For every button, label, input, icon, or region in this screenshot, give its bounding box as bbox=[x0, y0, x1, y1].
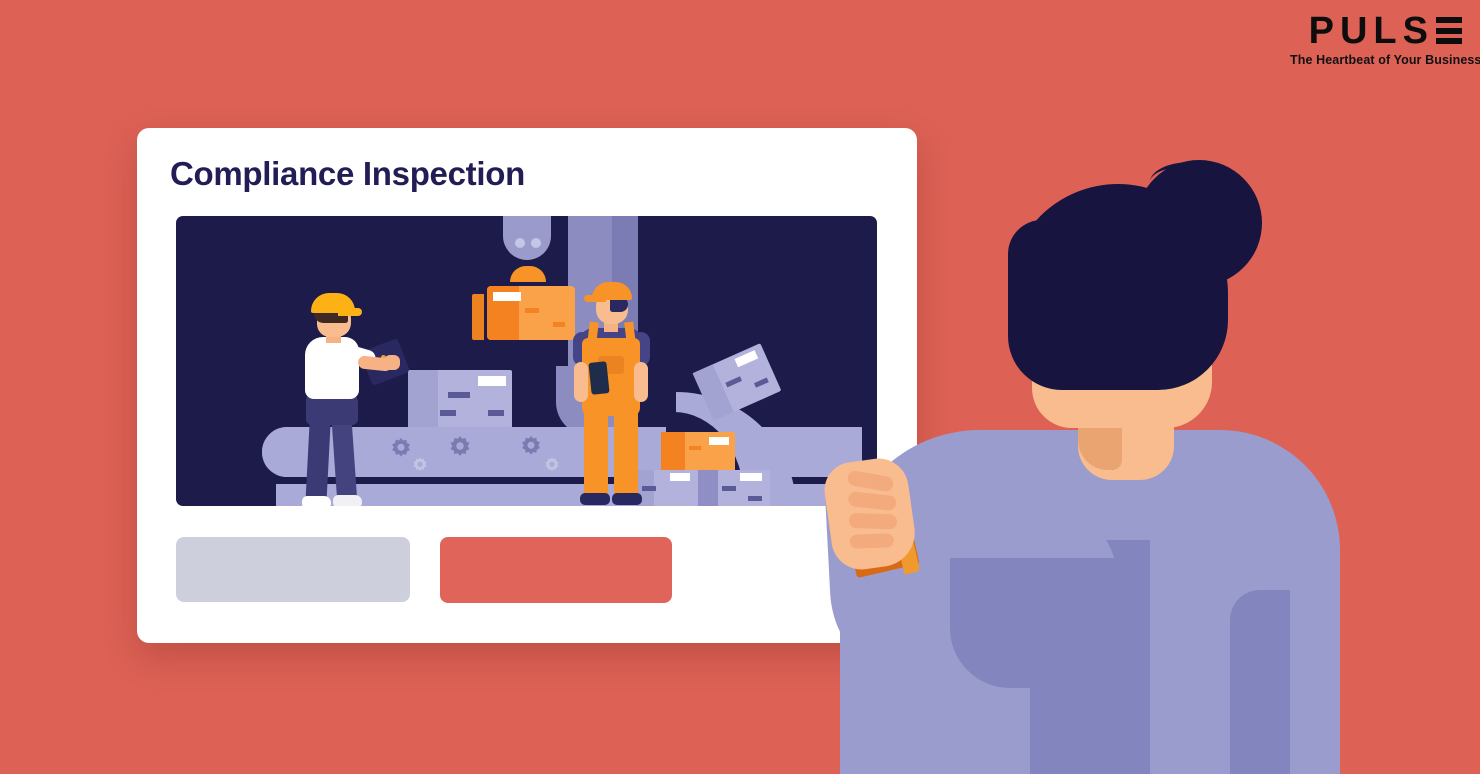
clipboard-scanner-icon bbox=[588, 361, 609, 395]
box-stack-right bbox=[698, 470, 770, 506]
illustration-panel bbox=[176, 216, 877, 506]
page-title: Compliance Inspection bbox=[170, 155, 525, 193]
female-inspector-figure bbox=[286, 291, 406, 506]
gear-icon-5 bbox=[541, 456, 563, 478]
person-sweater-shade-right bbox=[1230, 590, 1290, 774]
box-on-belt-center bbox=[408, 370, 512, 428]
stylized-e-bars-icon bbox=[1436, 17, 1462, 44]
gear-icon-3 bbox=[444, 434, 476, 466]
compliance-card: Compliance Inspection bbox=[137, 128, 917, 643]
brand-word-text: PULS bbox=[1309, 12, 1434, 50]
brand-wordmark: PULS bbox=[1290, 12, 1462, 50]
brand-tagline: The Heartbeat of Your Business bbox=[1290, 53, 1462, 67]
robot-eye-left-icon bbox=[515, 238, 525, 248]
secondary-action-button[interactable] bbox=[176, 537, 410, 602]
male-worker-figure bbox=[568, 278, 678, 506]
box-left-edge bbox=[472, 294, 484, 340]
robot-arm-head-icon bbox=[503, 216, 551, 260]
page-root: PULS The Heartbeat of Your Business Comp… bbox=[0, 0, 1480, 774]
foreground-person-illustration bbox=[820, 160, 1480, 774]
robot-eye-right-icon bbox=[531, 238, 541, 248]
box-suspended bbox=[487, 286, 575, 340]
person-hand bbox=[821, 455, 919, 574]
primary-action-button[interactable] bbox=[440, 537, 672, 603]
gear-icon-2 bbox=[409, 456, 431, 478]
robot-gripper-icon bbox=[510, 266, 546, 282]
brand-logo: PULS The Heartbeat of Your Business bbox=[1290, 12, 1462, 67]
